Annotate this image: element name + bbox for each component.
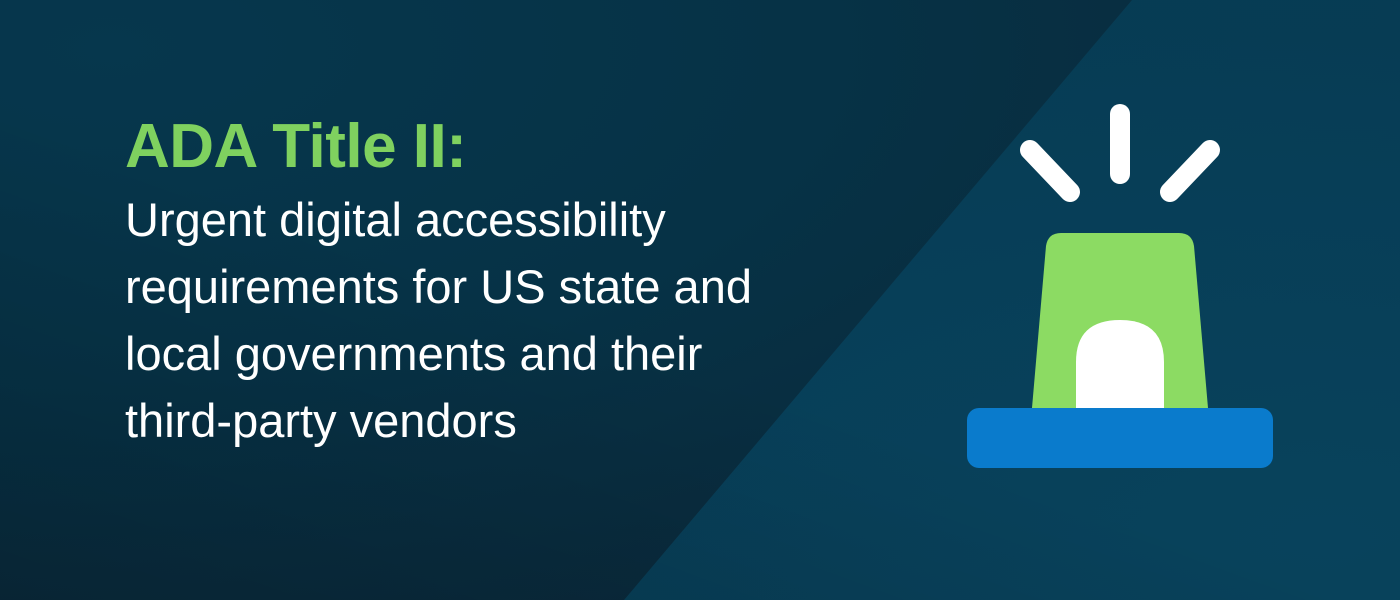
ada-title-ii-banner: ADA Title II: Urgent digital accessibili… <box>0 0 1400 600</box>
subheading-line-2: requirements for US state and <box>125 253 905 320</box>
siren-lamp <box>1076 320 1164 408</box>
siren-ray-right <box>1170 150 1210 192</box>
subheading-line-3: local governments and their <box>125 320 905 387</box>
siren-base <box>967 408 1273 468</box>
banner-text-block: ADA Title II: Urgent digital accessibili… <box>125 108 905 454</box>
banner-subheading: Urgent digital accessibility requirement… <box>125 186 905 454</box>
subheading-line-4: third-party vendors <box>125 387 905 454</box>
siren-ray-left <box>1030 150 1070 192</box>
page-title: ADA Title II: <box>125 108 905 186</box>
emergency-siren-icon <box>960 100 1280 480</box>
siren-light-rays <box>1030 114 1210 192</box>
subheading-line-1: Urgent digital accessibility <box>125 186 905 253</box>
